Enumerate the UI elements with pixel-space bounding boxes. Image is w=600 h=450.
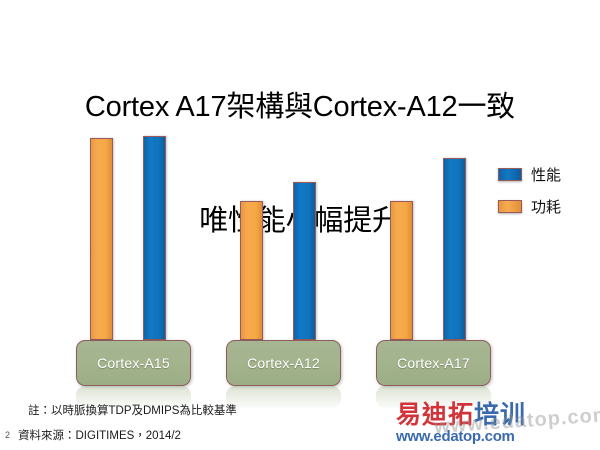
legend-label-power: 功耗 [531,196,561,217]
power-bar-cortex-a17 [390,201,413,340]
watermark-brand: 易迪拓培训 [396,402,596,428]
performance-bar-cortex-a15 [143,136,166,340]
category-label-text: Cortex-A15 [97,355,170,371]
legend-label-performance: 性能 [531,164,561,185]
bar-group-cortex-a12 [226,130,341,340]
watermark-ghost-url: www.edatop.com [433,404,600,439]
watermark-brand-blue: 培训 [474,401,526,429]
category-label-reflection [226,386,341,408]
watermark-url: www.edatop.com [396,428,596,445]
page-number: 2 [5,430,10,440]
bar-group-cortex-a17 [376,130,491,340]
performance-bar-cortex-a12 [293,182,316,340]
legend-item-performance: 性能 [498,158,596,190]
power-swatch-icon [498,200,522,213]
category-label-reflection [376,386,491,408]
performance-swatch-icon [498,168,522,181]
category-label-text: Cortex-A17 [397,355,470,371]
category-label-cortex-a15: Cortex-A15 [76,340,191,386]
category-label-cortex-a17: Cortex-A17 [376,340,491,386]
power-bar-cortex-a15 [90,138,113,340]
category-label-text: Cortex-A12 [247,355,320,371]
chart-legend: 性能 功耗 [498,158,596,222]
watermark: 易迪拓培训 www.edatop.com www.edatop.com [396,402,596,448]
bar-group-cortex-a15 [76,130,191,340]
footnote-source: 資料來源：DIGITIMES，2014/2 [18,427,181,443]
category-label-cortex-a12: Cortex-A12 [226,340,341,386]
footnote-note: 註：以時脈換算TDP及DMIPS為比較基準 [28,402,237,418]
watermark-brand-red: 易迪拓 [396,401,474,429]
performance-bar-cortex-a17 [443,158,466,340]
legend-item-power: 功耗 [498,190,596,222]
power-bar-cortex-a12 [240,201,263,340]
slide-canvas: Cortex A17架構與Cortex-A12一致 唯性能小幅提升 Cortex… [0,0,600,450]
